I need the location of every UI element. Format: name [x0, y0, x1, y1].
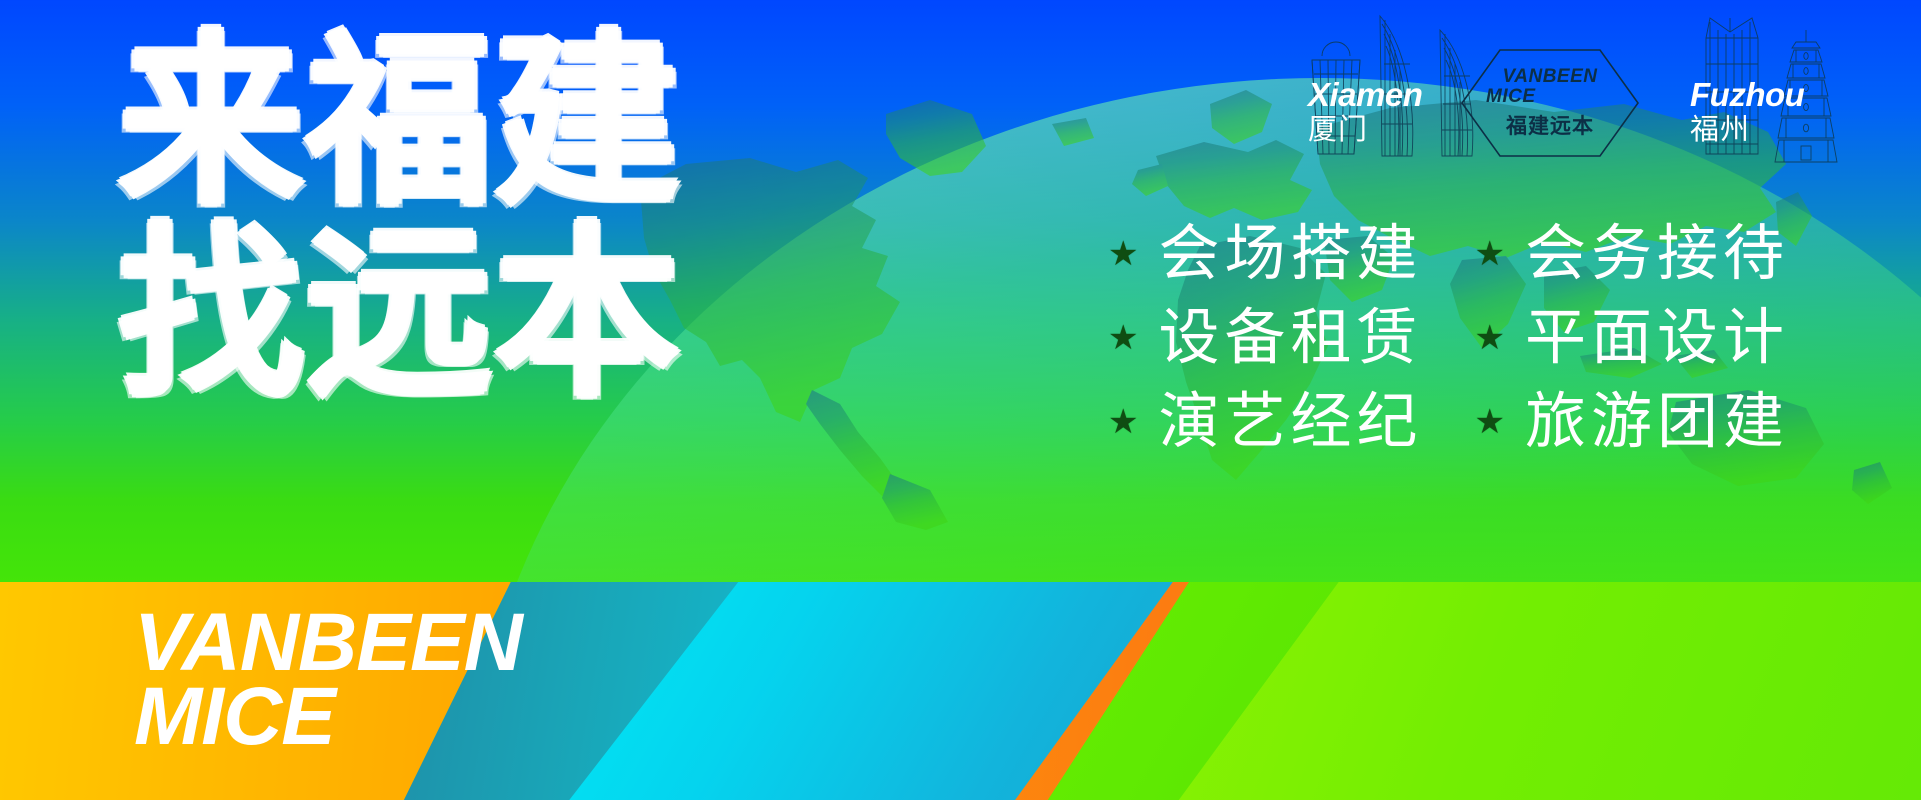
banner-stage: 来福建 找远本 ★ 会场搭建 ★ 会务接待 ★ 设备租赁 ★ 平面设计 ★ [0, 0, 1921, 582]
services-list: ★ 会场搭建 ★ 会务接待 ★ 设备租赁 ★ 平面设计 ★ 演艺经纪 ★ [1108, 216, 1789, 460]
headline-line-2: 找远本 [118, 226, 682, 402]
service-item-travel-teambuilding[interactable]: ★ 旅游团建 [1475, 384, 1790, 460]
service-label: 平面设计 [1525, 300, 1789, 376]
star-icon: ★ [1475, 321, 1505, 355]
city-label-fuzhou: Fuzhou 福州 [1690, 78, 1804, 144]
service-item-venue-setup[interactable]: ★ 会场搭建 [1108, 216, 1423, 292]
hex-badge-line-3: 福建远本 [1506, 110, 1594, 140]
service-item-performance-agency[interactable]: ★ 演艺经纪 [1108, 384, 1423, 460]
star-icon: ★ [1475, 237, 1505, 271]
service-label: 旅游团建 [1525, 384, 1789, 460]
headline-line-1: 来福建 [118, 34, 682, 210]
headline: 来福建 找远本 [118, 34, 682, 402]
city-name-en: Xiamen [1308, 78, 1422, 111]
service-item-conference-reception[interactable]: ★ 会务接待 [1475, 216, 1790, 292]
brand-wordmark: VANBEEN MICE [134, 606, 522, 754]
service-item-graphic-design[interactable]: ★ 平面设计 [1475, 300, 1790, 376]
service-label: 会场搭建 [1158, 216, 1422, 292]
star-icon: ★ [1108, 237, 1138, 271]
service-label: 演艺经纪 [1158, 384, 1422, 460]
city-label-xiamen: Xiamen 厦门 [1308, 78, 1422, 144]
promotional-banner: 来福建 找远本 ★ 会场搭建 ★ 会务接待 ★ 设备租赁 ★ 平面设计 ★ [0, 0, 1921, 800]
service-label: 设备租赁 [1158, 300, 1422, 376]
city-name-cn: 厦门 [1308, 115, 1422, 144]
wordmark-line-2: MICE [134, 680, 522, 754]
service-item-equipment-rental[interactable]: ★ 设备租赁 [1108, 300, 1423, 376]
service-label: 会务接待 [1525, 216, 1789, 292]
star-icon: ★ [1475, 405, 1505, 439]
vanbeen-hex-badge[interactable]: VANBEEN MICE 福建远本 [1460, 48, 1640, 158]
hex-badge-line-1: VANBEEN [1503, 67, 1598, 87]
star-icon: ★ [1108, 321, 1138, 355]
city-landmark-cluster: Xiamen 厦门 Fuzhou 福州 VANBEEN MICE 福建远本 [1300, 4, 1920, 184]
city-name-en: Fuzhou [1690, 78, 1804, 111]
star-icon: ★ [1108, 405, 1138, 439]
wordmark-line-1: VANBEEN [134, 606, 522, 680]
hex-badge-line-2: MICE [1486, 87, 1536, 107]
bottom-ribbon: VANBEEN MICE [0, 582, 1921, 800]
city-name-cn: 福州 [1690, 115, 1804, 144]
